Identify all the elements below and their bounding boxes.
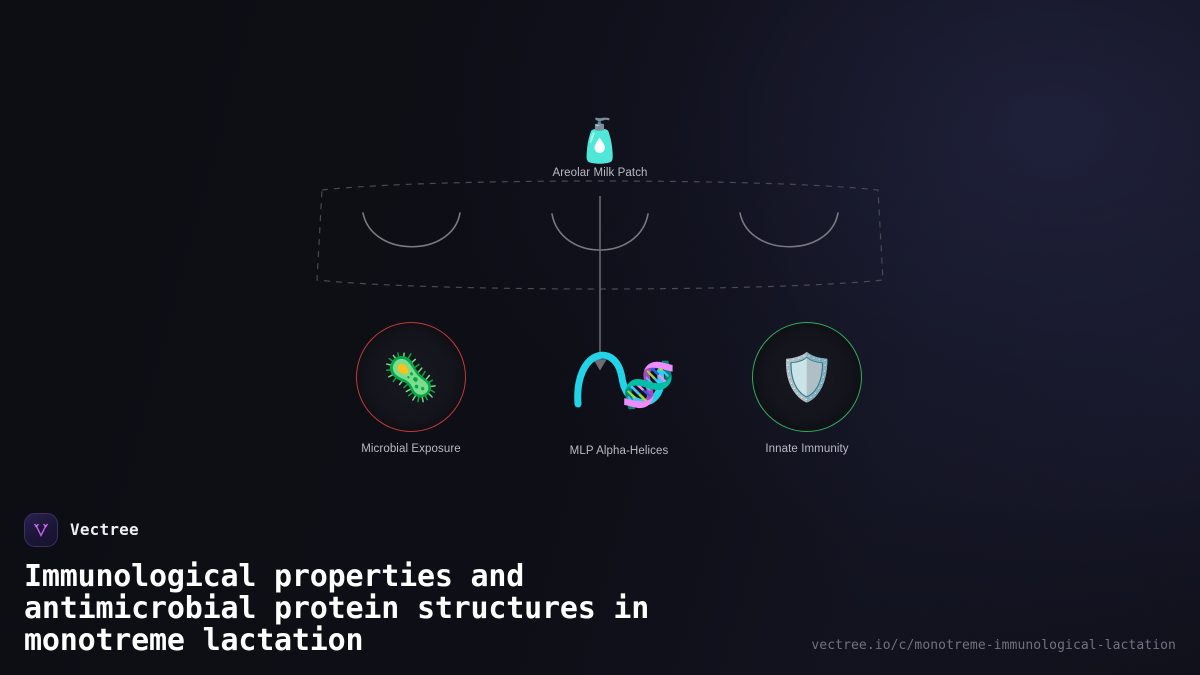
- shield-emoji: 🛡️: [778, 354, 835, 400]
- infographic-canvas: 🧴 Areolar Milk Patch 🦠 Microbial Exposur…: [0, 0, 1200, 675]
- node-label-innate-immunity: Innate Immunity: [765, 443, 848, 455]
- edge-arc-left: [363, 213, 460, 247]
- brand-row[interactable]: Vectree: [24, 513, 1176, 547]
- node-innate-immunity[interactable]: 🛡️ Innate Immunity: [752, 322, 862, 455]
- mlp-glyph-stack: 🧬: [559, 338, 679, 443]
- site-url: vectree.io/c/monotreme-immunological-lac…: [811, 638, 1176, 653]
- lotion-bottle-emoji: 🧴: [574, 120, 626, 162]
- vectree-v-logo-icon: [24, 513, 58, 547]
- page-title: Immunological properties and antimicrobi…: [24, 561, 824, 657]
- microbe-emoji: 🦠: [382, 354, 439, 400]
- footer: Vectree Immunological properties and ant…: [0, 513, 1200, 675]
- node-label-mlp-alpha-helices: MLP Alpha-Helices: [570, 445, 669, 457]
- edge-arc-right: [740, 213, 838, 247]
- node-microbial-exposure[interactable]: 🦠 Microbial Exposure: [356, 322, 466, 455]
- dna-emoji: 🧬: [621, 364, 676, 408]
- node-label-microbial-exposure: Microbial Exposure: [361, 443, 461, 455]
- node-mlp-alpha-helices[interactable]: 🧬 MLP Alpha-Helices: [559, 338, 679, 457]
- brand-name: Vectree: [70, 520, 139, 539]
- node-circle-innate-immunity[interactable]: 🛡️: [752, 322, 862, 432]
- node-areolar-milk-patch[interactable]: 🧴 Areolar Milk Patch: [552, 120, 647, 179]
- node-label-areolar-milk-patch: Areolar Milk Patch: [552, 167, 647, 179]
- node-circle-microbial-exposure[interactable]: 🦠: [356, 322, 466, 432]
